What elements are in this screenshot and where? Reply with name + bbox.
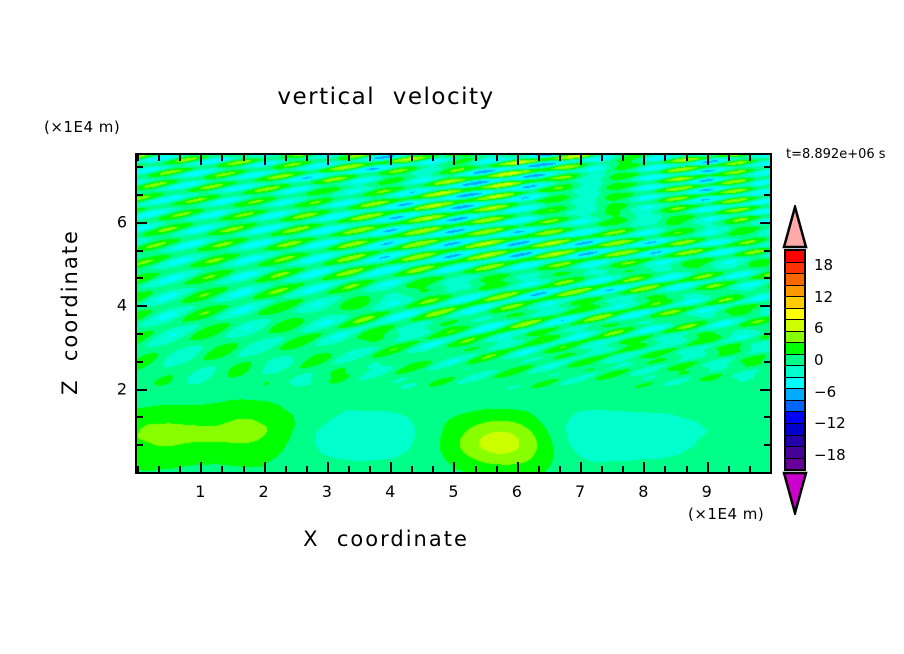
colorbar-segment — [786, 309, 804, 321]
x-tick-label: 4 — [385, 482, 395, 501]
x-major-tick — [643, 462, 645, 472]
y-minor-tick — [137, 416, 143, 418]
colorbar-segment — [786, 378, 804, 390]
x-major-tick-top — [327, 155, 329, 165]
x-tick-label: 8 — [638, 482, 648, 501]
y-minor-tick-right — [764, 250, 770, 252]
x-major-tick — [264, 462, 266, 472]
x-minor-tick — [749, 466, 751, 472]
y-axis-unit-label: (×1E4 m) — [44, 118, 120, 136]
y-minor-tick — [137, 194, 143, 196]
colorbar-segment — [786, 459, 804, 470]
x-major-tick — [517, 462, 519, 472]
y-minor-tick — [137, 444, 143, 446]
x-minor-tick-top — [221, 155, 223, 161]
colorbar-tick-label: −6 — [814, 383, 836, 401]
y-tick-label: 4 — [101, 296, 127, 315]
colorbar-segments — [784, 249, 806, 471]
colorbar-tick-label: −18 — [814, 446, 846, 464]
colorbar-tick-label: 6 — [814, 319, 824, 337]
colorbar-segment — [786, 447, 804, 459]
x-minor-tick-top — [432, 155, 434, 161]
colorbar-segment — [786, 320, 804, 332]
colorbar — [782, 205, 808, 515]
y-axis-title: Z coordinate — [58, 202, 82, 422]
x-major-tick — [200, 462, 202, 472]
x-major-tick-top — [580, 155, 582, 165]
y-minor-tick-right — [764, 277, 770, 279]
x-minor-tick — [559, 466, 561, 472]
colorbar-segment — [786, 332, 804, 344]
x-tick-label: 9 — [702, 482, 712, 501]
y-minor-tick-right — [764, 361, 770, 363]
y-major-tick — [137, 305, 147, 307]
x-minor-tick — [285, 466, 287, 472]
x-minor-tick — [601, 466, 603, 472]
x-minor-tick-top — [158, 155, 160, 161]
x-minor-tick — [622, 466, 624, 472]
colorbar-segment — [786, 401, 804, 413]
y-minor-tick-right — [764, 416, 770, 418]
x-minor-tick — [243, 466, 245, 472]
colorbar-under-arrow — [782, 471, 808, 515]
x-minor-tick — [221, 466, 223, 472]
y-minor-tick — [137, 361, 143, 363]
y-major-tick — [137, 222, 147, 224]
y-minor-tick-right — [764, 444, 770, 446]
x-tick-label: 1 — [195, 482, 205, 501]
x-tick-label: 7 — [575, 482, 585, 501]
y-major-tick-right — [760, 389, 770, 391]
x-minor-tick — [158, 466, 160, 472]
x-minor-tick — [496, 466, 498, 472]
colorbar-segment — [786, 355, 804, 367]
x-major-tick — [453, 462, 455, 472]
y-minor-tick-right — [764, 166, 770, 168]
colorbar-over-arrow — [782, 205, 808, 249]
x-minor-tick-top — [411, 155, 413, 161]
x-minor-tick-top — [306, 155, 308, 161]
x-minor-tick — [728, 466, 730, 472]
x-minor-tick-top — [728, 155, 730, 161]
x-tick-label: 3 — [322, 482, 332, 501]
y-major-tick-right — [760, 305, 770, 307]
x-minor-tick-top — [475, 155, 477, 161]
x-minor-tick-top — [538, 155, 540, 161]
x-minor-tick — [179, 466, 181, 472]
colorbar-tick-label: 12 — [814, 288, 833, 306]
x-tick-label: 2 — [259, 482, 269, 501]
x-minor-tick-top — [770, 155, 772, 161]
contour-plot-figure: vertical velocity (×1E4 m) (×1E4 m) X co… — [0, 0, 904, 654]
colorbar-tick-label: −12 — [814, 414, 846, 432]
x-minor-tick-top — [369, 155, 371, 161]
x-minor-tick-top — [601, 155, 603, 161]
x-major-tick — [390, 462, 392, 472]
x-major-tick-top — [453, 155, 455, 165]
y-minor-tick — [137, 472, 143, 474]
y-minor-tick — [137, 250, 143, 252]
colorbar-segment — [786, 263, 804, 275]
x-minor-tick-top — [749, 155, 751, 161]
x-major-tick-top — [517, 155, 519, 165]
x-major-tick — [707, 462, 709, 472]
x-minor-tick — [348, 466, 350, 472]
x-minor-tick-top — [622, 155, 624, 161]
velocity-field-canvas — [137, 155, 770, 472]
y-minor-tick — [137, 333, 143, 335]
y-major-tick — [137, 389, 147, 391]
plot-area — [135, 153, 772, 474]
y-major-tick-right — [760, 222, 770, 224]
colorbar-segment — [786, 412, 804, 424]
x-minor-tick — [306, 466, 308, 472]
colorbar-segment — [786, 286, 804, 298]
x-minor-tick — [411, 466, 413, 472]
colorbar-segment — [786, 297, 804, 309]
colorbar-segment — [786, 424, 804, 436]
x-major-tick-top — [643, 155, 645, 165]
colorbar-segment — [786, 274, 804, 286]
colorbar-segment — [786, 436, 804, 448]
x-tick-label: 5 — [448, 482, 458, 501]
y-minor-tick-right — [764, 333, 770, 335]
x-minor-tick-top — [137, 155, 139, 161]
x-minor-tick-top — [496, 155, 498, 161]
x-minor-tick-top — [243, 155, 245, 161]
x-minor-tick-top — [559, 155, 561, 161]
x-major-tick-top — [707, 155, 709, 165]
x-tick-label: 6 — [512, 482, 522, 501]
y-minor-tick — [137, 277, 143, 279]
x-minor-tick-top — [686, 155, 688, 161]
x-major-tick-top — [390, 155, 392, 165]
x-minor-tick-top — [179, 155, 181, 161]
x-major-tick — [327, 462, 329, 472]
x-minor-tick-top — [664, 155, 666, 161]
x-major-tick-top — [264, 155, 266, 165]
time-annotation: t=8.892e+06 s — [786, 147, 886, 162]
colorbar-tick-label: 18 — [814, 256, 833, 274]
x-minor-tick — [664, 466, 666, 472]
y-tick-label: 6 — [101, 212, 127, 231]
colorbar-segment — [786, 366, 804, 378]
x-minor-tick — [770, 466, 772, 472]
y-tick-label: 2 — [101, 379, 127, 398]
x-axis-unit-label: (×1E4 m) — [688, 505, 764, 523]
x-minor-tick-top — [285, 155, 287, 161]
x-axis-title: X coordinate — [0, 527, 772, 551]
colorbar-segment — [786, 251, 804, 263]
x-major-tick — [580, 462, 582, 472]
x-minor-tick — [538, 466, 540, 472]
x-minor-tick — [475, 466, 477, 472]
page-title: vertical velocity — [0, 84, 772, 110]
x-major-tick-top — [200, 155, 202, 165]
colorbar-tick-label: 0 — [814, 351, 824, 369]
colorbar-segment — [786, 343, 804, 355]
y-minor-tick-right — [764, 194, 770, 196]
colorbar-segment — [786, 389, 804, 401]
x-minor-tick — [432, 466, 434, 472]
x-minor-tick-top — [348, 155, 350, 161]
x-minor-tick — [686, 466, 688, 472]
x-minor-tick — [369, 466, 371, 472]
y-minor-tick-right — [764, 472, 770, 474]
y-minor-tick — [137, 166, 143, 168]
